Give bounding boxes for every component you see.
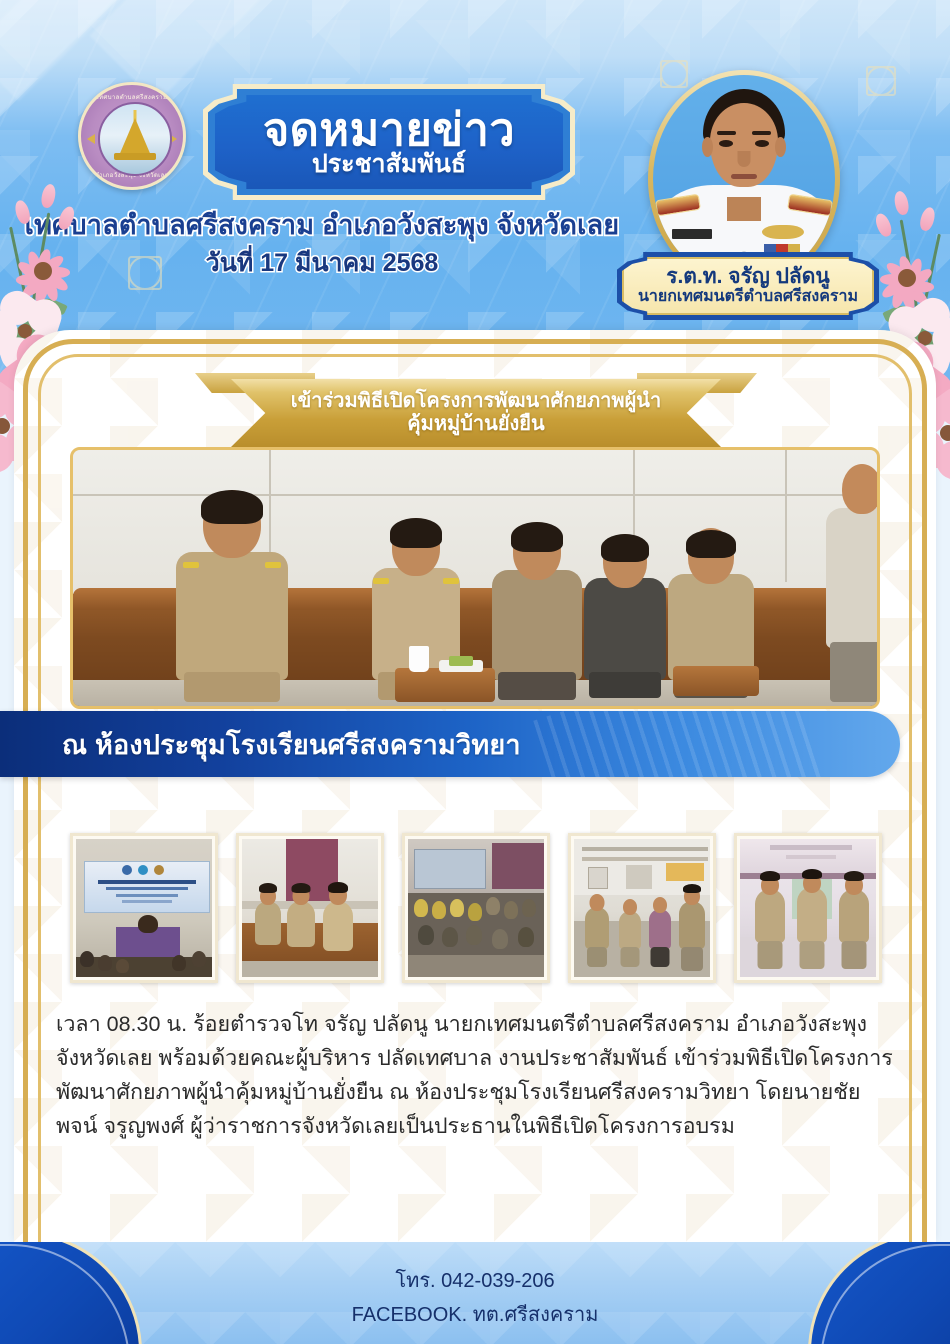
portrait-eye-right (755, 140, 769, 147)
seal-top-text: เทศบาลตำบลศรีสงคราม (81, 92, 183, 102)
nameplate-panel: ร.ต.ท. จรัญ ปลัดนู นายกเทศมนตรีตำบลศรีสง… (622, 257, 874, 315)
badge-inner-panel: จดหมายข่าว ประชาสัมพันธ์ (215, 95, 563, 189)
chedi-pagoda-icon (118, 118, 152, 158)
newsletter-subtitle: ประชาสัมพันธ์ (312, 151, 466, 177)
portrait-brow-left (717, 131, 736, 135)
thumbnail-image (574, 839, 710, 977)
portrait-collar-left (708, 187, 730, 219)
photo-snack (449, 656, 473, 666)
photo-person (577, 512, 673, 688)
seal-inner-disc (98, 102, 172, 176)
photo-cup (409, 646, 429, 672)
footer-telephone: โทร. 042-039-206 (0, 1264, 950, 1298)
footer: โทร. 042-039-206 FACEBOOK. ทต.ศรีสงคราม (0, 1242, 950, 1344)
photo-side-table (673, 666, 759, 696)
mayor-name: ร.ต.ท. จรัญ ปลัดนู (666, 265, 830, 288)
article-body: เวลา 08.30 น. ร้อยตำรวจโท จรัญ ปลัดนู นา… (56, 1008, 894, 1144)
quatrefoil-ornament-icon (866, 66, 896, 96)
footer-facebook: FACEBOOK. ทต.ศรีสงคราม (0, 1298, 950, 1332)
portrait-ear-left (702, 137, 713, 157)
quatrefoil-ornament-icon (660, 60, 688, 88)
footer-contact-block: โทร. 042-039-206 FACEBOOK. ทต.ศรีสงคราม (0, 1264, 950, 1332)
location-text: ณ ห้องประชุมโรงเรียนศรีสงครามวิทยา (0, 723, 521, 766)
portrait-eye-left (719, 140, 733, 147)
thumbnail-item[interactable] (70, 833, 218, 983)
main-event-photo[interactable] (70, 447, 880, 709)
photo-person (817, 452, 880, 688)
thumbnail-item[interactable] (402, 833, 550, 983)
portrait-neck (727, 197, 761, 221)
event-title-ribbon: เข้าร่วมพิธีเปิดโครงการพัฒนาศักยภาพผู้นำ… (231, 371, 721, 447)
portrait-nose (738, 151, 751, 167)
ribbon-text-group: เข้าร่วมพิธีเปิดโครงการพัฒนาศักยภาพผู้นำ… (231, 379, 721, 447)
mayor-nameplate: ร.ต.ท. จรัญ ปลัดนู นายกเทศมนตรีตำบลศรีสง… (617, 252, 879, 320)
photo-person (169, 482, 295, 688)
thumbnail-item[interactable] (568, 833, 716, 983)
photo-person (485, 502, 589, 688)
thumbnail-image (408, 839, 544, 977)
newsletter-poster: เทศบาลตำบลศรีสงคราม อำเภอวังสะพุง จังหวั… (0, 0, 950, 1344)
newsletter-title: จดหมายข่าว (263, 107, 515, 153)
municipality-seal-logo: เทศบาลตำบลศรีสงคราม อำเภอวังสะพุง จังหวั… (78, 82, 186, 190)
chedi-base-icon (114, 153, 156, 160)
issue-date: วันที่ 17 มีนาคม 2568 (22, 243, 622, 283)
portrait-collar-right (758, 187, 780, 219)
thumbnail-image (740, 839, 876, 977)
article-paragraph: เวลา 08.30 น. ร้อยตำรวจโท จรัญ ปลัดนู นา… (56, 1008, 894, 1144)
mayor-role: นายกเทศมนตรีตำบลศรีสงคราม (638, 288, 858, 306)
photo-wall-seam (785, 450, 787, 582)
location-bar: ณ ห้องประชุมโรงเรียนศรีสงครามวิทยา (0, 711, 900, 777)
event-title-line2: คุ้มหมู่บ้านยั่งยืน (407, 413, 544, 436)
portrait-name-tag (672, 229, 712, 239)
photo-thumbnail-strip (70, 833, 882, 983)
photo-side-table (395, 668, 495, 702)
seal-arrow-left-icon (87, 134, 95, 144)
thumbnail-item[interactable] (236, 833, 384, 983)
photo-person (661, 508, 761, 688)
portrait-ear-right (775, 137, 786, 157)
thumbnail-image (76, 839, 212, 977)
title-badge: จดหมายข่าว ประชาสัมพันธ์ (203, 84, 575, 200)
thumbnail-image (242, 839, 378, 977)
organization-name: เทศบาลตำบลศรีสงคราม อำเภอวังสะพุง จังหวั… (22, 203, 622, 246)
event-title-line1: เข้าร่วมพิธีเปิดโครงการพัฒนาศักยภาพผู้นำ (291, 390, 661, 413)
location-bar-texture (533, 711, 827, 777)
portrait-brow-right (752, 131, 771, 135)
portrait-mouth (731, 174, 757, 179)
portrait-wing-insignia-icon (762, 225, 804, 239)
thumbnail-item[interactable] (734, 833, 882, 983)
